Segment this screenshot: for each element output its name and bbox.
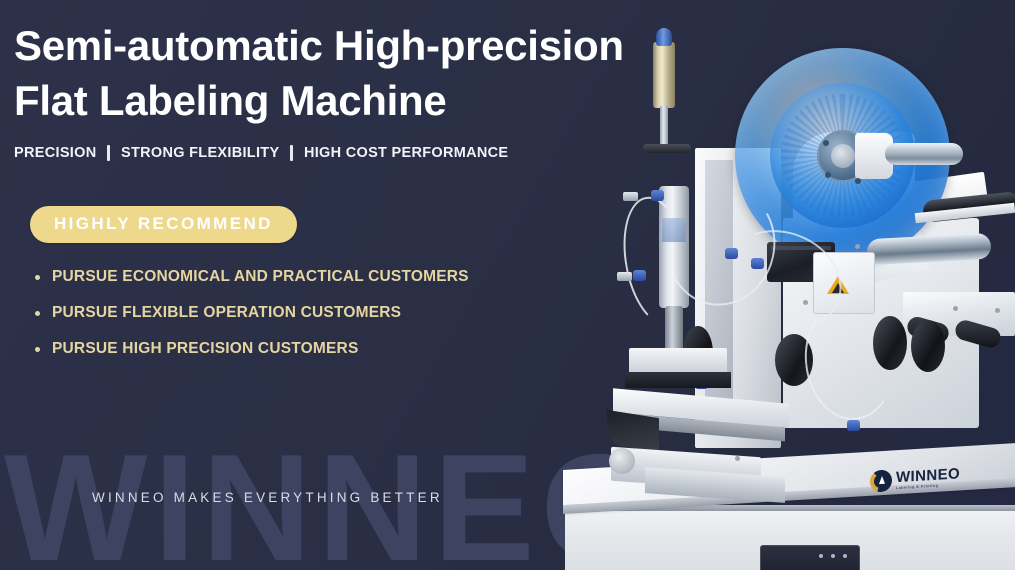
air-fitting	[633, 270, 646, 281]
hub-screw-icon	[825, 172, 831, 178]
cylinder-cap	[656, 28, 672, 46]
subline-separator-icon	[290, 145, 293, 161]
headline-line-2: Flat Labeling Machine	[14, 73, 624, 128]
product-image: WINNEO Labeling & Printing	[555, 0, 1015, 570]
hub-screw-icon	[855, 178, 861, 184]
status-badge: HIGHLY RECOMMEND	[30, 206, 297, 243]
air-fitting	[623, 192, 638, 201]
top-pneumatic-cylinder	[653, 42, 675, 108]
panel-indicator-icon	[843, 554, 847, 558]
subline-separator-icon	[107, 145, 110, 161]
reel-shaft	[885, 143, 963, 165]
control-panel	[760, 545, 860, 570]
hub-screw-icon	[823, 140, 829, 146]
page-title: Semi-automatic High-precision Flat Label…	[14, 18, 624, 129]
cylinder-mount	[643, 144, 691, 153]
list-item: PURSUE HIGH PRECISION CUSTOMERS	[32, 340, 469, 358]
subline-item-flexibility: STRONG FLEXIBILITY	[121, 145, 279, 161]
stage-base	[625, 372, 731, 388]
reel-hub-core	[831, 144, 855, 168]
logo-text: WINNEO Labeling & Printing	[896, 466, 960, 490]
cylinder-rod	[660, 106, 668, 148]
subline-item-performance: HIGH COST PERFORMANCE	[304, 145, 508, 161]
panel-indicator-icon	[819, 554, 823, 558]
winneo-logo-icon	[870, 469, 892, 492]
air-fitting	[725, 248, 738, 259]
logo-triangle-icon	[879, 476, 885, 484]
air-fitting	[617, 272, 632, 281]
benefit-list: PURSUE ECONOMICAL AND PRACTICAL CUSTOMER…	[32, 268, 469, 376]
headline-line-1: Semi-automatic High-precision	[14, 22, 624, 69]
rubber-roller	[911, 320, 945, 372]
list-item: PURSUE ECONOMICAL AND PRACTICAL CUSTOMER…	[32, 268, 469, 286]
screw-icon	[803, 300, 808, 305]
subline-item-precision: PRECISION	[14, 145, 96, 161]
panel-indicator-icon	[831, 554, 835, 558]
brand-tagline: WINNEO MAKES EVERYTHING BETTER	[92, 490, 443, 505]
logo-name: WINNEO	[896, 466, 960, 485]
air-fitting	[651, 190, 664, 201]
screw-icon	[735, 456, 740, 461]
air-fitting	[751, 258, 764, 269]
feature-subline: PRECISION STRONG FLEXIBILITY HIGH COST P…	[14, 145, 508, 161]
screw-icon	[855, 244, 860, 249]
product-banner: WINNEO	[0, 0, 1015, 570]
peel-plate	[607, 410, 659, 452]
screw-icon	[953, 306, 958, 311]
adjust-knob[interactable]	[609, 448, 635, 474]
list-item: PURSUE FLEXIBLE OPERATION CUSTOMERS	[32, 304, 469, 322]
air-fitting	[847, 420, 860, 431]
screw-icon	[995, 308, 1000, 313]
